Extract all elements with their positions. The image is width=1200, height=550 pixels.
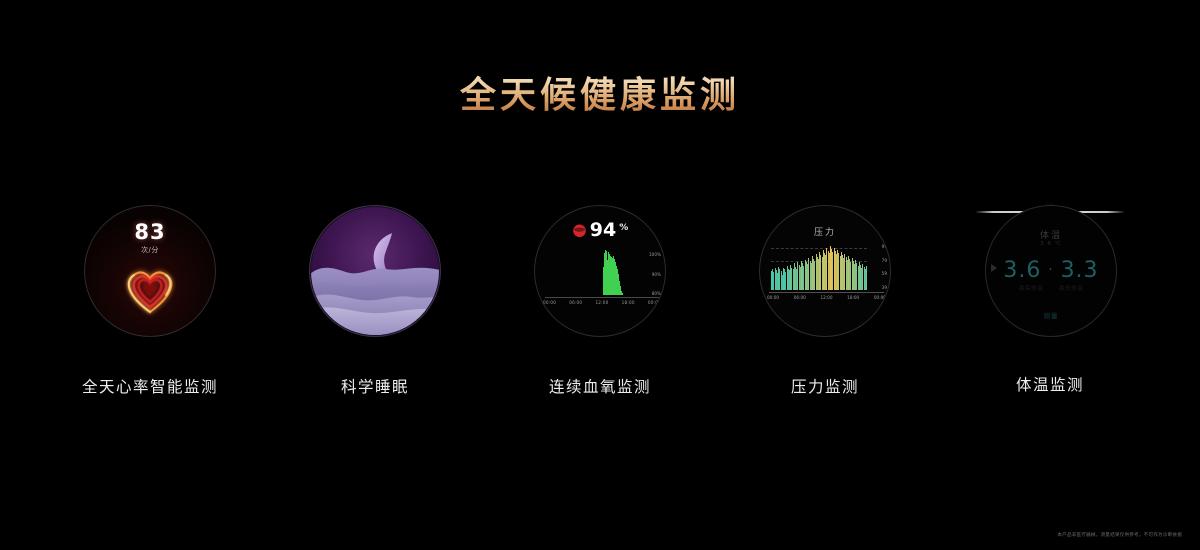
temperature-title: 体温	[986, 228, 1116, 241]
feature-card-heart-rate[interactable]: 83 次/分	[38, 205, 263, 397]
heart-rate-value: 83	[85, 222, 215, 243]
stress-bars	[771, 246, 867, 290]
feature-caption-sleep: 科学睡眠	[341, 375, 409, 397]
watch-face-heart-rate[interactable]: 83 次/分	[84, 205, 216, 337]
spo2-x-axis	[545, 297, 659, 298]
temperature-value-right: 3.3	[1061, 258, 1099, 283]
stress-y-labels: 99795939	[882, 244, 887, 290]
slide-root: 全天候健康监测 83 次/分	[0, 0, 1200, 550]
spo2-y-labels: 100%90%80%	[649, 252, 661, 296]
feature-card-stress[interactable]: 压力 00:0006:0012:0018:0000:00 99795939 压力…	[713, 205, 938, 397]
watch-face-stress[interactable]: 压力 00:0006:0012:0018:0000:00 99795939	[759, 205, 891, 337]
temperature-values: 3.6 · 3.3	[986, 258, 1116, 283]
heart-icon	[107, 262, 193, 322]
spo2-value: 94	[590, 221, 616, 240]
temperature-sublabels: 最高体温 最低体温	[986, 284, 1116, 292]
spo2-chart	[547, 250, 639, 295]
temperature-footer: 测量	[986, 310, 1116, 320]
feature-card-temperature[interactable]: 体温 3.6 ℃ 3.6 · 3.3 最高体温 最低体温 测量 体温监测	[938, 205, 1163, 395]
sleep-scene-icon	[310, 206, 440, 336]
temperature-label-right: 最低体温	[1059, 284, 1083, 292]
temperature-label-left: 最高体温	[1019, 284, 1043, 292]
watch-face-sleep[interactable]	[309, 205, 441, 337]
spo2-bars	[547, 250, 639, 295]
blood-drop-icon	[572, 223, 587, 238]
spo2-readout: 94 %	[535, 221, 665, 240]
feature-caption-temperature: 体温监测	[1016, 373, 1084, 395]
stress-chart	[771, 246, 867, 290]
feature-caption-spo2: 连续血氧监测	[549, 375, 651, 397]
feature-card-sleep[interactable]: 科学睡眠	[263, 205, 488, 397]
temperature-separator: ·	[1048, 263, 1053, 278]
temperature-subtitle: 3.6 ℃	[986, 241, 1116, 247]
temperature-value-left: 3.6	[1003, 258, 1041, 283]
watch-face-temperature-wrap: 体温 3.6 ℃ 3.6 · 3.3 最高体温 最低体温 测量	[985, 205, 1115, 335]
feature-caption-stress: 压力监测	[791, 375, 859, 397]
feature-row: 83 次/分	[0, 205, 1200, 397]
feature-caption-heart-rate: 全天心率智能监测	[82, 375, 218, 397]
spo2-x-labels: 00:0006:0012:0018:0000:00	[543, 300, 661, 305]
watch-face-spo2[interactable]: 94 % 00:0006:0012:0018:0000:00 100%90%80…	[534, 205, 666, 337]
legal-footnote: 本产品非医疗器械，测量结果仅供参考，不可作为诊断依据	[1057, 532, 1182, 538]
page-title: 全天候健康监测	[0, 66, 1200, 118]
feature-card-spo2[interactable]: 94 % 00:0006:0012:0018:0000:00 100%90%80…	[488, 205, 713, 397]
spo2-unit: %	[619, 223, 628, 233]
watch-face-temperature[interactable]: 体温 3.6 ℃ 3.6 · 3.3 最高体温 最低体温 测量	[985, 205, 1117, 337]
stress-title: 压力	[760, 225, 890, 238]
stress-x-labels: 00:0006:0012:0018:0000:00	[767, 295, 886, 300]
heart-rate-unit: 次/分	[85, 245, 215, 255]
stress-x-axis	[769, 292, 884, 293]
